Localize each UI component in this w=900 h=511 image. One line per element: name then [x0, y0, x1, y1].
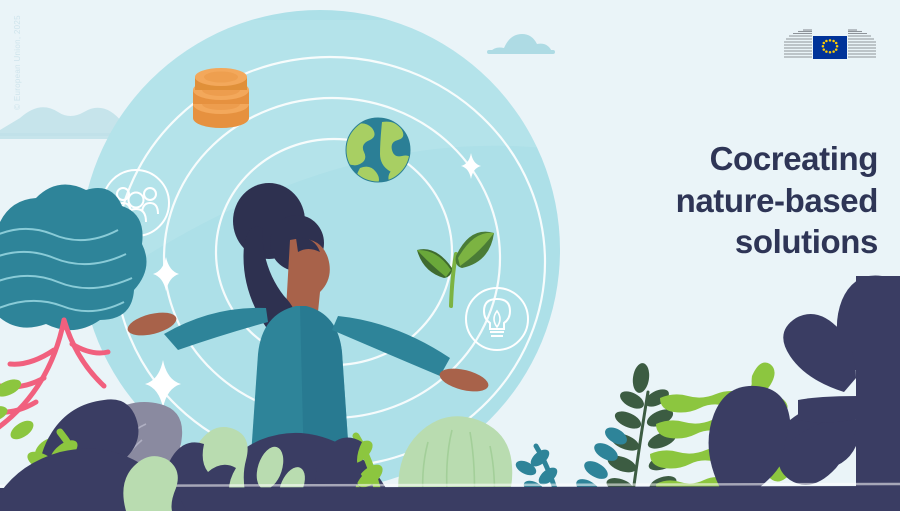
page-title: Cocreating nature-based solutions — [600, 138, 878, 263]
coins-stack-icon — [193, 68, 249, 128]
banner: © European Union, 2025 — [0, 0, 900, 511]
page-title-line-1: Cocreating — [600, 138, 878, 180]
page-title-line-2: nature-based — [600, 180, 878, 222]
logo-fan-right — [848, 30, 876, 57]
european-commission-logo — [782, 24, 878, 72]
logo-fan-left — [784, 30, 812, 57]
page-title-line-3: solutions — [600, 221, 878, 263]
copyright-notice: © European Union, 2025 — [13, 15, 22, 110]
